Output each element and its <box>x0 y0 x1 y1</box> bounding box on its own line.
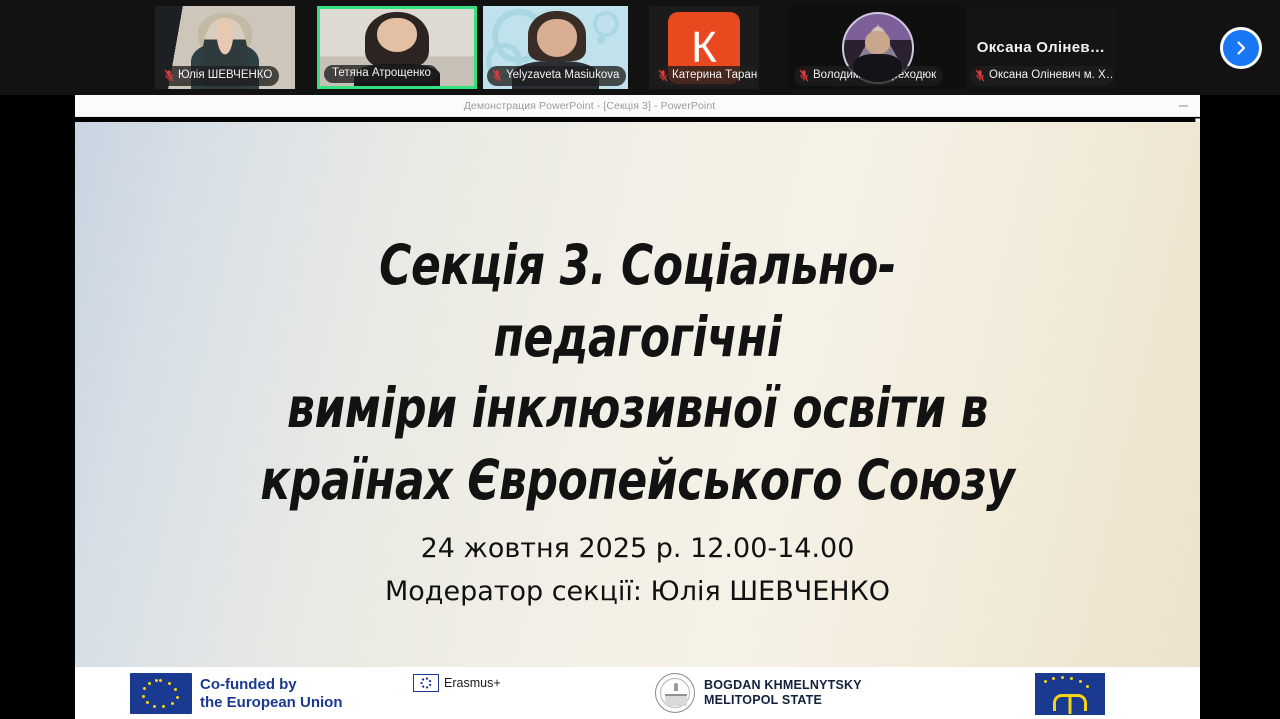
mic-muted-icon <box>658 69 668 82</box>
erasmus-flag-icon <box>413 674 439 692</box>
erasmus-plus-logo: Erasmus+ <box>413 674 501 692</box>
minimize-button[interactable] <box>1167 95 1200 117</box>
university-line-1: BOGDAN KHMELNYTSKY <box>704 678 862 692</box>
next-participants-page-button[interactable] <box>1220 27 1262 69</box>
participant-tile-6[interactable]: Оксана Олінев… Оксана Оліневич м. Х… <box>966 6 1116 89</box>
powerpoint-window: Демонстрация PowerPoint - [Секція 3] - P… <box>0 95 1280 719</box>
slide-footer: Co-funded by the European Union Erasmus+… <box>75 667 1200 719</box>
cofunded-line-2: the European Union <box>200 694 343 711</box>
participant-tile-2[interactable]: Тетяна Атрощенко <box>317 6 477 89</box>
university-logo: BOGDAN KHMELNYTSKY MELITOPOL STATE <box>655 673 862 713</box>
cofunded-label: Co-funded by the European Union <box>200 676 343 711</box>
participant-display-name-6: Оксана Олінев… <box>977 39 1105 56</box>
mic-muted-icon <box>492 69 502 82</box>
participant-name-4: Катерина Таран <box>672 70 757 82</box>
cofunded-eu-logo: Co-funded by the European Union <box>130 673 343 714</box>
participant-filmstrip: Юлія ШЕВЧЕНКО Тетяна Атрощенко Yelyzavet <box>0 0 1280 95</box>
mic-muted-icon <box>975 69 985 82</box>
cofunded-line-1: Co-funded by <box>200 676 297 693</box>
participant-name-badge-4: Катерина Таран <box>653 66 759 86</box>
participant-name-badge-2: Тетяна Атрощенко <box>324 65 438 84</box>
participant-tile-5[interactable]: Володимир Переходюк <box>790 6 965 89</box>
mic-muted-icon <box>799 69 809 82</box>
slide-moderator: Модератор секції: Юлія ШЕВЧЕНКО <box>135 570 1140 613</box>
university-line-2: MELITOPOL STATE <box>704 693 822 707</box>
participant-tile-1[interactable]: Юлія ШЕВЧЕНКО <box>155 6 295 89</box>
participant-name-badge-6: Оксана Оліневич м. Х… <box>970 66 1114 86</box>
university-label: BOGDAN KHMELNYTSKY MELITOPOL STATE <box>704 678 862 708</box>
slide-subtitle: 24 жовтня 2025 р. 12.00-14.00 Модератор … <box>135 527 1140 613</box>
slide-title: Секція 3. Соціально-педагогічні виміри і… <box>236 230 1040 516</box>
eu-flag-icon <box>130 673 192 714</box>
mic-muted-icon <box>164 69 174 82</box>
slide-title-line-3: країнах Європейського Союзу <box>236 445 1040 517</box>
eu-book-logo <box>1035 673 1105 715</box>
window-title: Демонстрация PowerPoint - [Секція 3] - P… <box>12 100 1167 112</box>
university-seal-icon <box>655 673 695 713</box>
participant-name-2: Тетяна Атрощенко <box>332 68 431 80</box>
participant-name-3: Yelyzaveta Masiukova <box>506 70 619 82</box>
participant-name-1: Юлія ШЕВЧЕНКО <box>178 70 272 82</box>
minimize-icon <box>1178 100 1189 111</box>
participant-name-6: Оксана Оліневич м. Х… <box>989 70 1114 82</box>
presentation-slide[interactable]: Секція 3. Соціально-педагогічні виміри і… <box>75 122 1200 719</box>
eu-book-icon <box>1035 673 1105 715</box>
slide-title-line-1: Секція 3. Соціально-педагогічні <box>236 230 1040 373</box>
participant-name-badge-1: Юлія ШЕВЧЕНКО <box>159 66 279 86</box>
erasmus-label: Erasmus+ <box>444 676 501 690</box>
window-titlebar[interactable]: Демонстрация PowerPoint - [Секція 3] - P… <box>12 95 1268 117</box>
slide-date-time: 24 жовтня 2025 р. 12.00-14.00 <box>135 527 1140 570</box>
letterbox-right <box>1200 95 1280 719</box>
chevron-right-icon <box>1233 40 1249 56</box>
slide-title-line-2: виміри інклюзивної освіти в <box>236 373 1040 445</box>
screen: Юлія ШЕВЧЕНКО Тетяна Атрощенко Yelyzavet <box>0 0 1280 719</box>
participant-name-badge-3: Yelyzaveta Masiukova <box>487 66 626 86</box>
letterbox-left <box>0 95 75 719</box>
participant-tile-4[interactable]: К Катерина Таран <box>649 6 759 89</box>
participant-tile-3[interactable]: Yelyzaveta Masiukova <box>483 6 628 89</box>
